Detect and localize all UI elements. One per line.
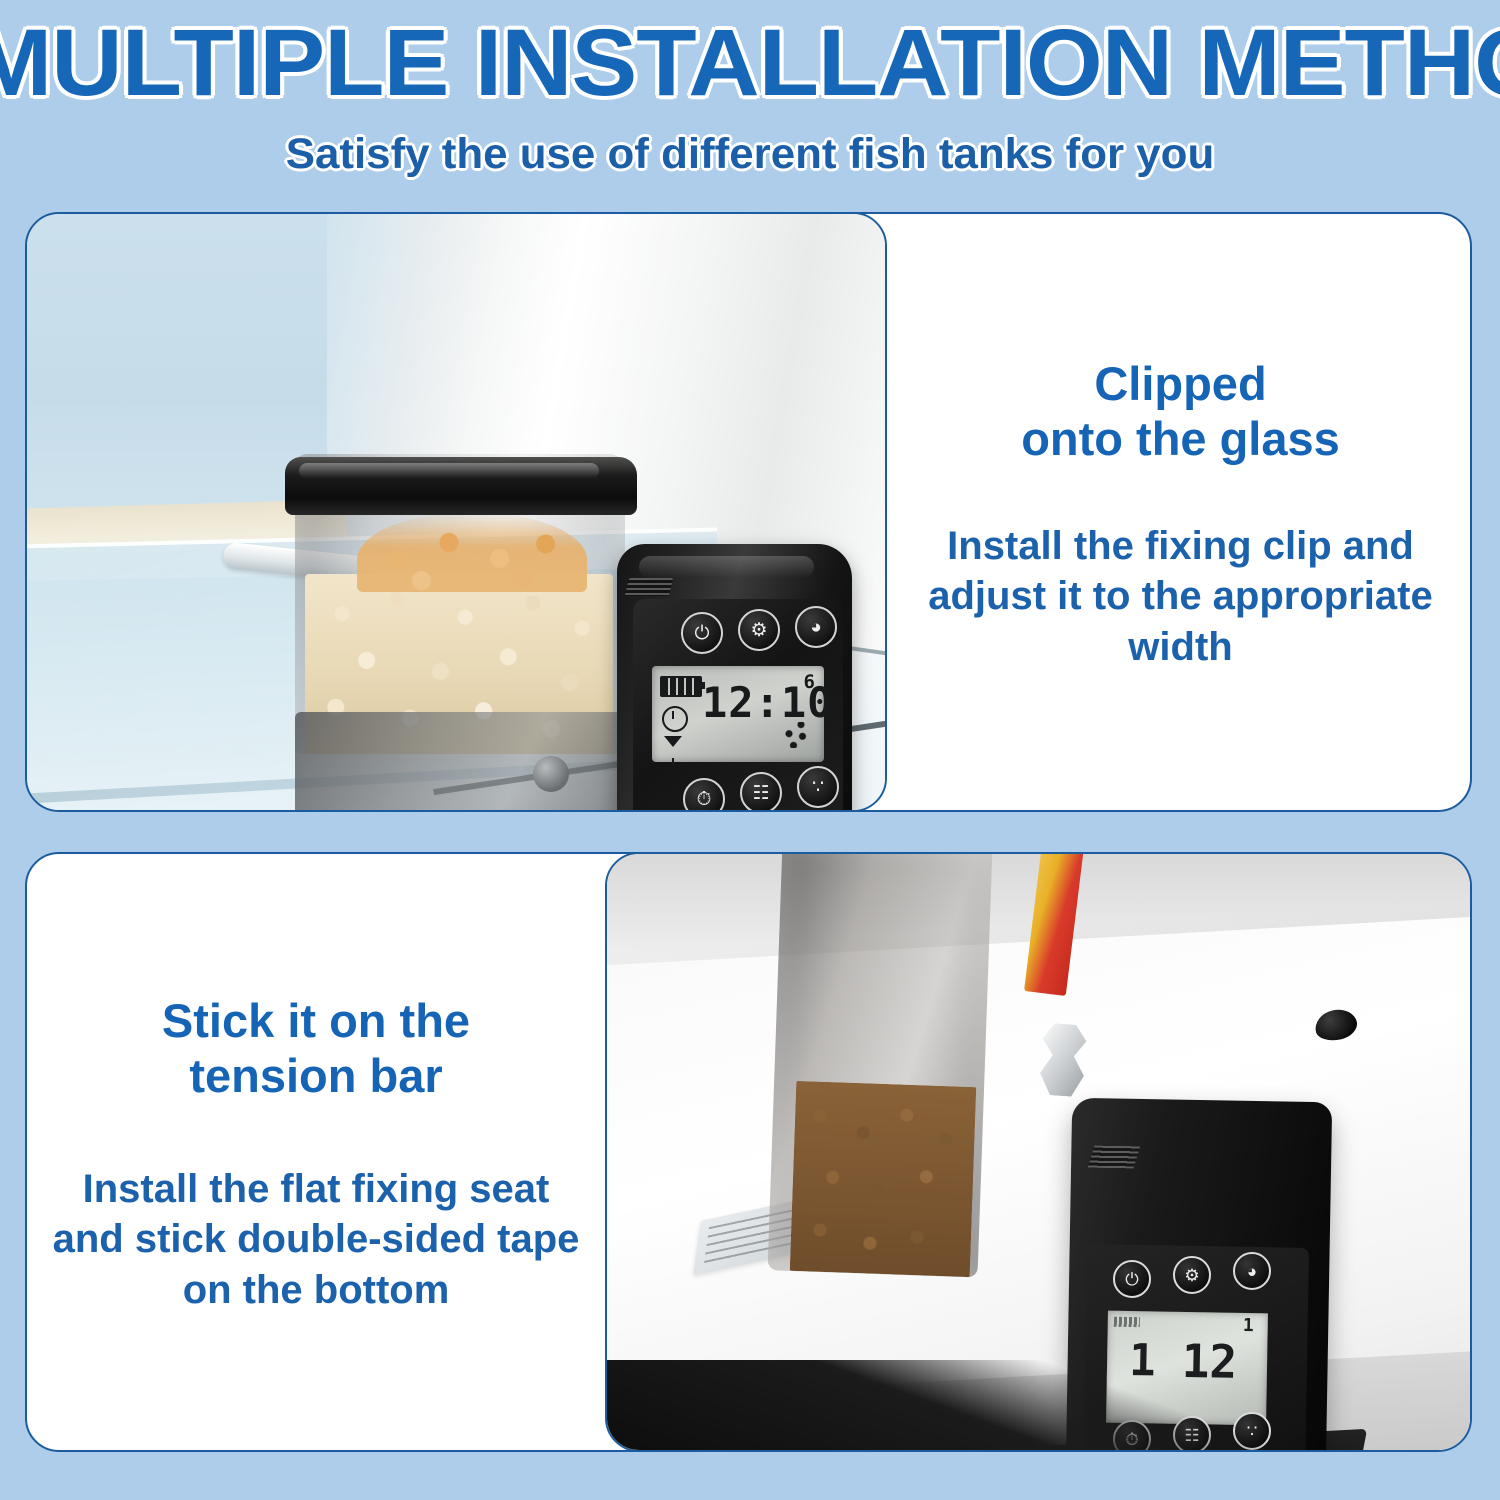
card-heading-line-1: Stick it on the (162, 993, 470, 1048)
calendar-icon: ☷ (752, 784, 769, 803)
funnel-icon (664, 736, 682, 747)
lcd-superscript-value: 6 (804, 671, 815, 693)
portion-button[interactable]: ∵ (797, 766, 839, 808)
portion-pellets-icon: ∵ (812, 778, 824, 797)
card-heading-line-2: onto the glass (1021, 411, 1340, 466)
wall-backdrop (27, 214, 327, 514)
battery-low-icon (1114, 1317, 1140, 1327)
vent-grille-icon (1088, 1146, 1140, 1169)
desk-shadow (607, 1360, 1472, 1452)
food-pellets-stack (790, 1081, 977, 1277)
card-heading: Clipped onto the glass (1021, 356, 1340, 467)
card-heading: Stick it on the tension bar (162, 993, 470, 1104)
battery-full-icon (660, 676, 702, 697)
card-body-text: Install the flat fixing seat and stick d… (51, 1164, 581, 1315)
card-text-tension-bar: Stick it on the tension bar Install the … (27, 854, 605, 1452)
manual-feed-icon: ◕ (810, 618, 821, 637)
timer-button[interactable]: ⏱ (683, 778, 725, 812)
card-text-clipped: Clipped onto the glass Install the fixin… (889, 214, 1472, 812)
settings-gear-button[interactable]: ⚙ (738, 609, 780, 651)
timer-icon: ⏱ (697, 790, 712, 809)
power-icon: ⏻ (694, 624, 709, 643)
hopper-lower-body (295, 712, 627, 812)
calendar-button[interactable]: ☷ (740, 772, 782, 812)
hopper-lid (285, 457, 637, 515)
card-body-text: Install the fixing clip and adjust it to… (913, 521, 1448, 672)
power-icon: ⏻ (1125, 1271, 1138, 1288)
clock-icon (662, 706, 688, 732)
tank-support-pillar (457, 810, 581, 812)
manual-feed-button[interactable]: ◕ (1233, 1252, 1271, 1290)
photo-clipped-on-glass: ⏻ ⚙ ◕ 12:10 6 ⏱ ☷ ∵ (25, 212, 887, 812)
page-header: MULTIPLE INSTALLATION METHODS Satisfy th… (0, 0, 1500, 200)
gear-icon: ⚙ (1184, 1267, 1199, 1284)
installation-card-tension-bar: Stick it on the tension bar Install the … (25, 852, 1472, 1452)
card-heading-line-1: Clipped (1021, 356, 1340, 411)
manual-feed-icon: ◕ (1247, 1263, 1257, 1280)
page-subtitle: Satisfy the use of different fish tanks … (0, 130, 1500, 179)
card-heading-line-2: tension bar (162, 1048, 470, 1103)
photo-tension-bar-mount: ⏻ ⚙ ◕ 1 12 1 ⏱ ☷ ∵ (605, 852, 1472, 1452)
manual-feed-button[interactable]: ◕ (795, 606, 837, 648)
gear-icon: ⚙ (750, 621, 767, 640)
settings-gear-button[interactable]: ⚙ (1173, 1256, 1211, 1294)
power-button[interactable]: ⏻ (681, 612, 723, 654)
lcd-display: 12:10 6 (652, 666, 824, 762)
vent-grille-icon (625, 578, 673, 596)
pellets-icon (780, 722, 810, 748)
installation-card-clipped: ⏻ ⚙ ◕ 12:10 6 ⏱ ☷ ∵ (25, 212, 1472, 812)
lcd-superscript-value: 1 (1243, 1315, 1254, 1336)
page-title: MULTIPLE INSTALLATION METHODS (0, 16, 1500, 111)
power-button[interactable]: ⏻ (1113, 1260, 1151, 1298)
